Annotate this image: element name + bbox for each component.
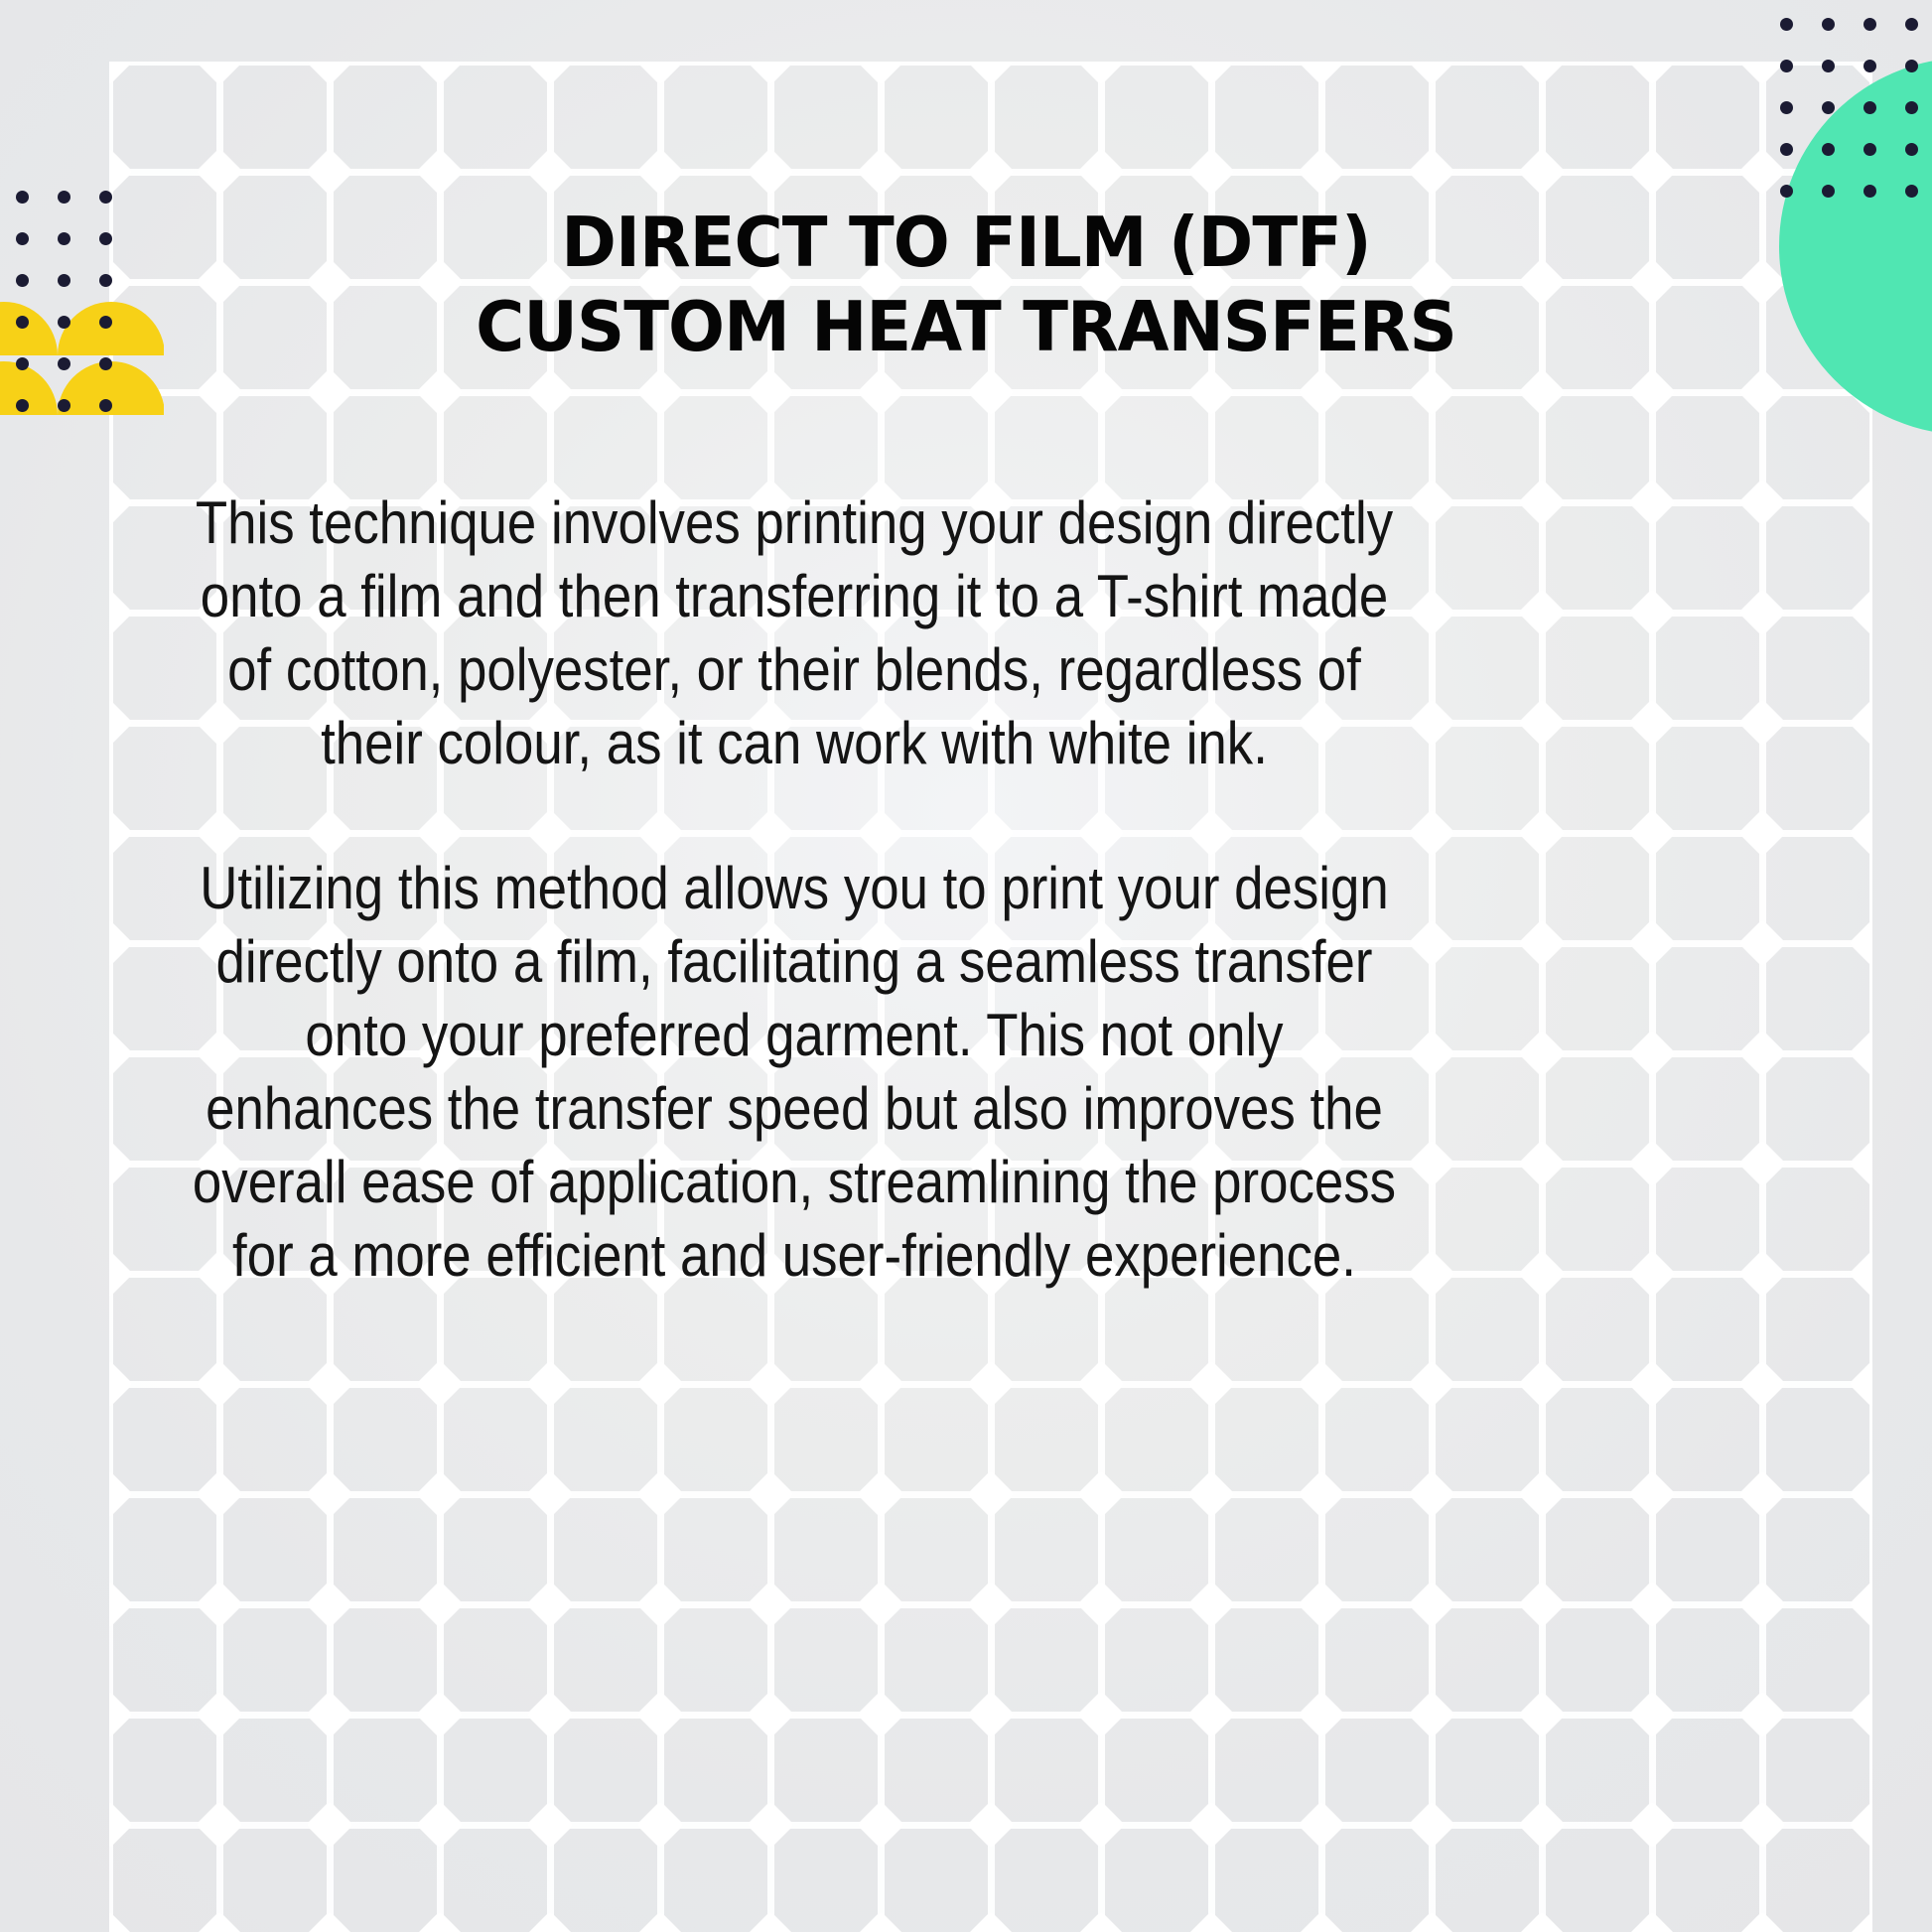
body-copy: This technique involves printing your de… [109,486,1479,1293]
page-title-line-1: DIRECT TO FILM (DTF) [182,201,1750,285]
page-title: DIRECT TO FILM (DTF) CUSTOM HEAT TRANSFE… [182,201,1750,369]
body-paragraph-2: Utilizing this method allows you to prin… [192,852,1397,1293]
body-paragraph-1: This technique involves printing your de… [192,486,1397,780]
poster-canvas: DIRECT TO FILM (DTF) CUSTOM HEAT TRANSFE… [0,0,1932,1932]
content-layer: DIRECT TO FILM (DTF) CUSTOM HEAT TRANSFE… [0,0,1932,1932]
page-title-line-2: CUSTOM HEAT TRANSFERS [182,285,1750,369]
